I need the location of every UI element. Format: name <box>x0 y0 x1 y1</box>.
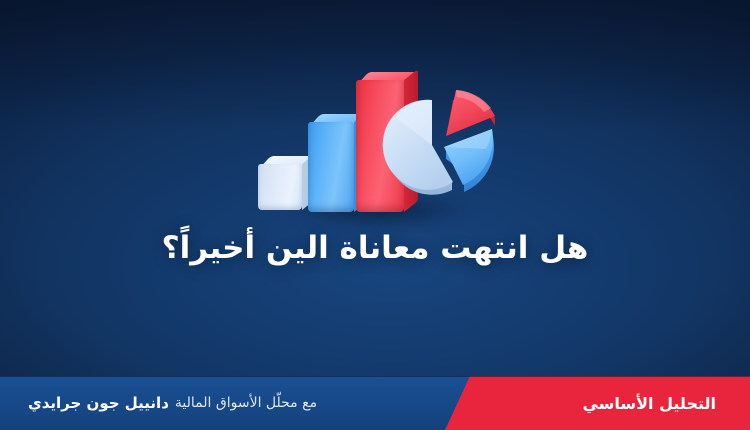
presenter-name-label: دانييل جون جرايدي <box>28 394 169 412</box>
page-title: هل انتهت معاناة الين أخيراً؟ <box>0 229 750 268</box>
presenter-credit: مع محلّل الأسواق المالية دانييل جون جراي… <box>28 376 317 430</box>
presenter-prefix-label: مع محلّل الأسواق المالية <box>175 395 317 411</box>
video-thumbnail: هل انتهت معاناة الين أخيراً؟ مع محلّل ال… <box>0 0 750 430</box>
bar-front-face <box>308 122 354 212</box>
category-label: التحليل الأساسي <box>582 376 716 430</box>
footer-bar: مع محلّل الأسواق المالية دانييل جون جراي… <box>0 376 750 430</box>
pie-chart-icon <box>374 82 508 220</box>
chart-illustration <box>246 56 514 232</box>
bar-front-face <box>258 164 302 210</box>
